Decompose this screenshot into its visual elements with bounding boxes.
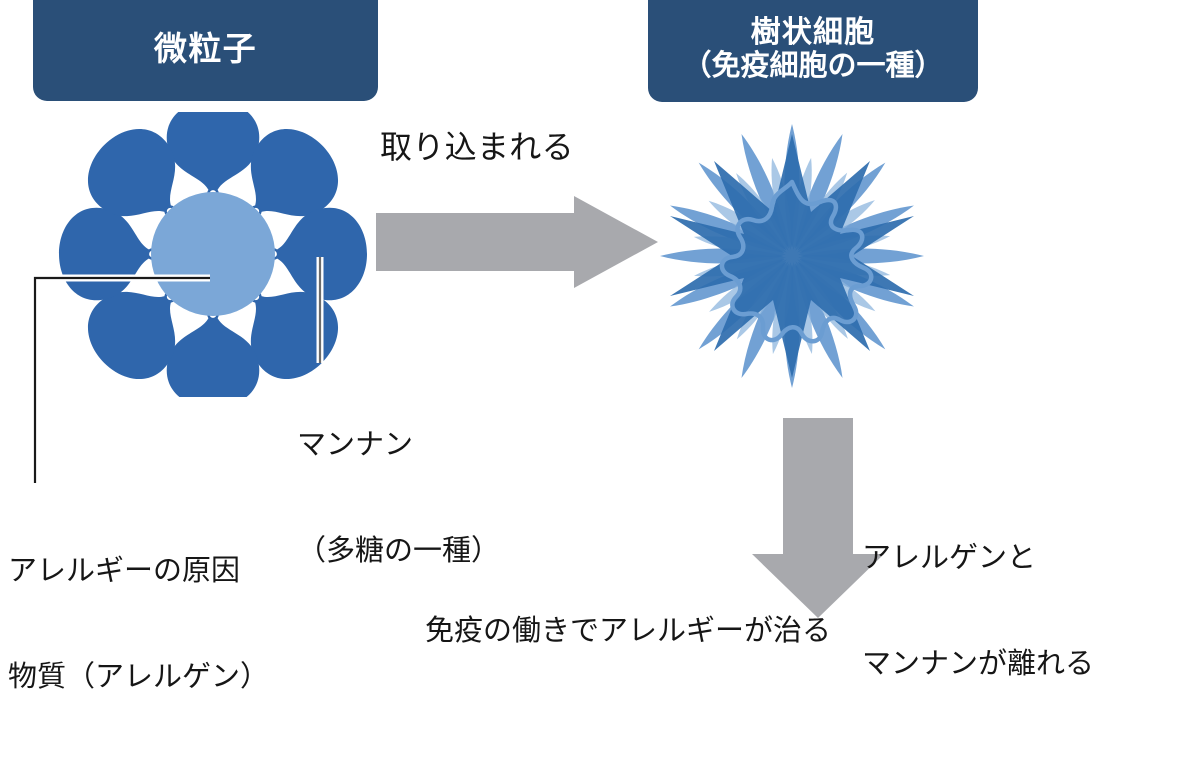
annotation-allergen-line2: 物質（アレルゲン） [8, 660, 269, 695]
diagram-canvas: 微粒子 樹状細胞 （免疫細胞の一種） 取り込まれる マンナン （多糖の一種） ア… [0, 0, 1200, 630]
label-box-dendritic-line2: （免疫細胞の一種） [682, 50, 943, 82]
label-box-dendritic-cell: 樹状細胞 （免疫細胞の一種） [648, 0, 978, 102]
right-arrow-icon [376, 196, 658, 288]
annotation-mannan: マンナン （多糖の一種） [297, 357, 500, 640]
annotation-detach: アレルゲンと マンナンが離れる [862, 470, 1094, 753]
annotation-mannan-line1: マンナン [297, 428, 500, 463]
annotation-uptake: 取り込まれる [380, 128, 574, 167]
annotation-allergen-line1: アレルギーの原因 [8, 554, 269, 589]
annotation-allergen: アレルギーの原因 物質（アレルゲン） [8, 483, 269, 766]
dendritic-cell-icon [652, 104, 932, 404]
annotation-mannan-line2: （多糖の一種） [297, 534, 500, 569]
leader-line-icon [300, 255, 340, 367]
label-box-microparticle: 微粒子 [33, 0, 378, 101]
annotation-detach-line2: マンナンが離れる [862, 647, 1094, 682]
annotation-detach-line1: アレルゲンと [862, 541, 1094, 576]
label-box-microparticle-text: 微粒子 [154, 31, 257, 68]
leader-line-icon [20, 265, 220, 490]
annotation-bottom-clipped: 免疫の働きでアレルギーが治る [425, 614, 831, 649]
label-box-dendritic-line1: 樹状細胞 [751, 16, 876, 50]
